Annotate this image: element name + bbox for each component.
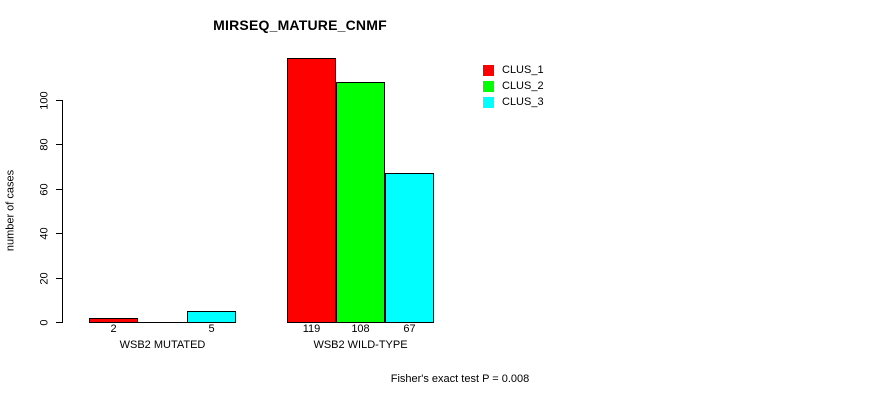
legend-item[interactable]: CLUS_3 [483,94,544,110]
legend-item-label: CLUS_2 [502,81,544,92]
plot-area: 25WSB2 MUTATED11910867WSB2 WILD-TYPE [0,0,890,400]
chart-page: MIRSEQ_MATURE_CNMF 020406080100 number o… [0,0,890,400]
chart-legend: CLUS_1CLUS_2CLUS_3 [483,62,544,110]
bar-clus_3[interactable] [385,173,434,323]
legend-item[interactable]: CLUS_1 [483,62,544,78]
bar-value-label: 119 [287,324,336,335]
bar-clus_2[interactable] [336,82,385,323]
legend-item-label: CLUS_3 [502,97,544,108]
statistical-test-note: Fisher's exact test P = 0.008 [0,373,890,385]
legend-color-swatch-icon [483,97,494,108]
bar-value-label: 67 [385,324,434,335]
legend-color-swatch-icon [483,65,494,76]
bar-value-label: 2 [89,324,138,335]
bar-clus_3[interactable] [187,311,236,323]
bar-value-label: 108 [336,324,385,335]
legend-item[interactable]: CLUS_2 [483,78,544,94]
bar-value-label: 5 [187,324,236,335]
bar-clus_1[interactable] [287,58,336,323]
group-axis-label: WSB2 WILD-TYPE [227,340,494,351]
legend-item-label: CLUS_1 [502,65,544,76]
legend-color-swatch-icon [483,81,494,92]
